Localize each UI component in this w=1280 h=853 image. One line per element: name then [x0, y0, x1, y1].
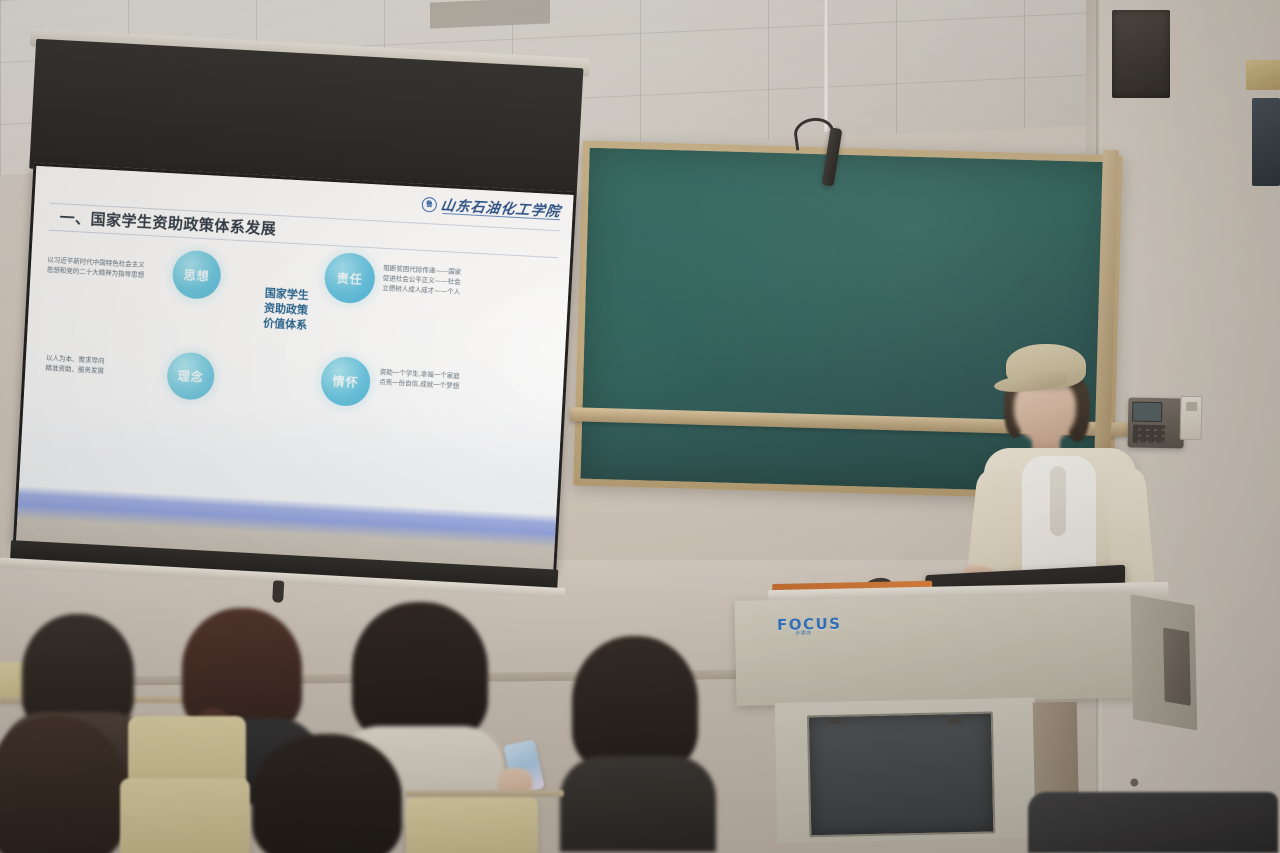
indicator-led-icon [1186, 402, 1197, 411]
wall-fixture-lower [1252, 98, 1280, 186]
wall-fixture-upper [1246, 60, 1280, 90]
podium-hinge-right [949, 718, 961, 723]
audience-member-hair [352, 602, 488, 742]
wall-switch-plate[interactable] [1180, 396, 1203, 440]
podium-side-door[interactable] [1163, 627, 1191, 705]
bubble-qinghuai: 情怀 [320, 356, 372, 408]
presenter-blouse-tie [1050, 466, 1066, 536]
seat-back [120, 778, 250, 853]
podium-display-panel[interactable] [807, 711, 996, 837]
note-bottom-right: 资助一个学生,幸福一个家庭 点亮一份自信,成就一个梦想 [379, 367, 552, 396]
backpack [1028, 792, 1278, 853]
university-name: 山东石油化工学院 [439, 195, 562, 221]
audience-member-shoulders [560, 756, 716, 852]
lecture-hall-scene: 鲁 山东石油化工学院 一、国家学生资助政策体系发展 思想 责任 理念 情怀 国家… [0, 0, 1280, 853]
university-seal-icon: 鲁 [421, 196, 437, 212]
audience-member-hair [572, 636, 698, 772]
seat-back [406, 796, 538, 853]
slide-title: 一、国家学生资助政策体系发展 [59, 206, 277, 239]
seat-rail-2 [404, 790, 564, 797]
slide-center-label: 国家学生 资助政策 价值体系 [242, 285, 330, 334]
projection-screen: 鲁 山东石油化工学院 一、国家学生资助政策体系发展 思想 责任 理念 情怀 国家… [0, 6, 593, 636]
bubble-zeren: 责任 [323, 252, 376, 305]
note-top-right: 阻断贫困代际传递——国家 促进社会公平正义——社会 立德树人成人成才——个人 [382, 263, 555, 302]
bubble-sixiang: 思想 [171, 249, 222, 300]
note-top-left: 以习近平新时代中国特色社会主义 思想和党的二十大精神为指导思想 [47, 255, 174, 282]
slide-logo: 鲁 山东石油化工学院 [421, 194, 561, 221]
screen-surface: 鲁 山东石油化工学院 一、国家学生资助政策体系发展 思想 责任 理念 情怀 国家… [13, 163, 577, 574]
podium-hinge-left [829, 719, 841, 724]
microphone-pole [824, 0, 829, 132]
audience-member-hair [252, 734, 402, 853]
title-rule-bottom [49, 230, 558, 259]
slide: 鲁 山东石油化工学院 一、国家学生资助政策体系发展 思想 责任 理念 情怀 国家… [16, 166, 574, 571]
note-bottom-left: 以人为本、需求导向 精准资助、服务发展 [45, 353, 166, 380]
bubble-linian: 理念 [166, 351, 215, 400]
wall-speaker-box [1112, 10, 1170, 98]
podium-lock-knob[interactable] [1130, 778, 1138, 786]
audience [0, 600, 800, 853]
